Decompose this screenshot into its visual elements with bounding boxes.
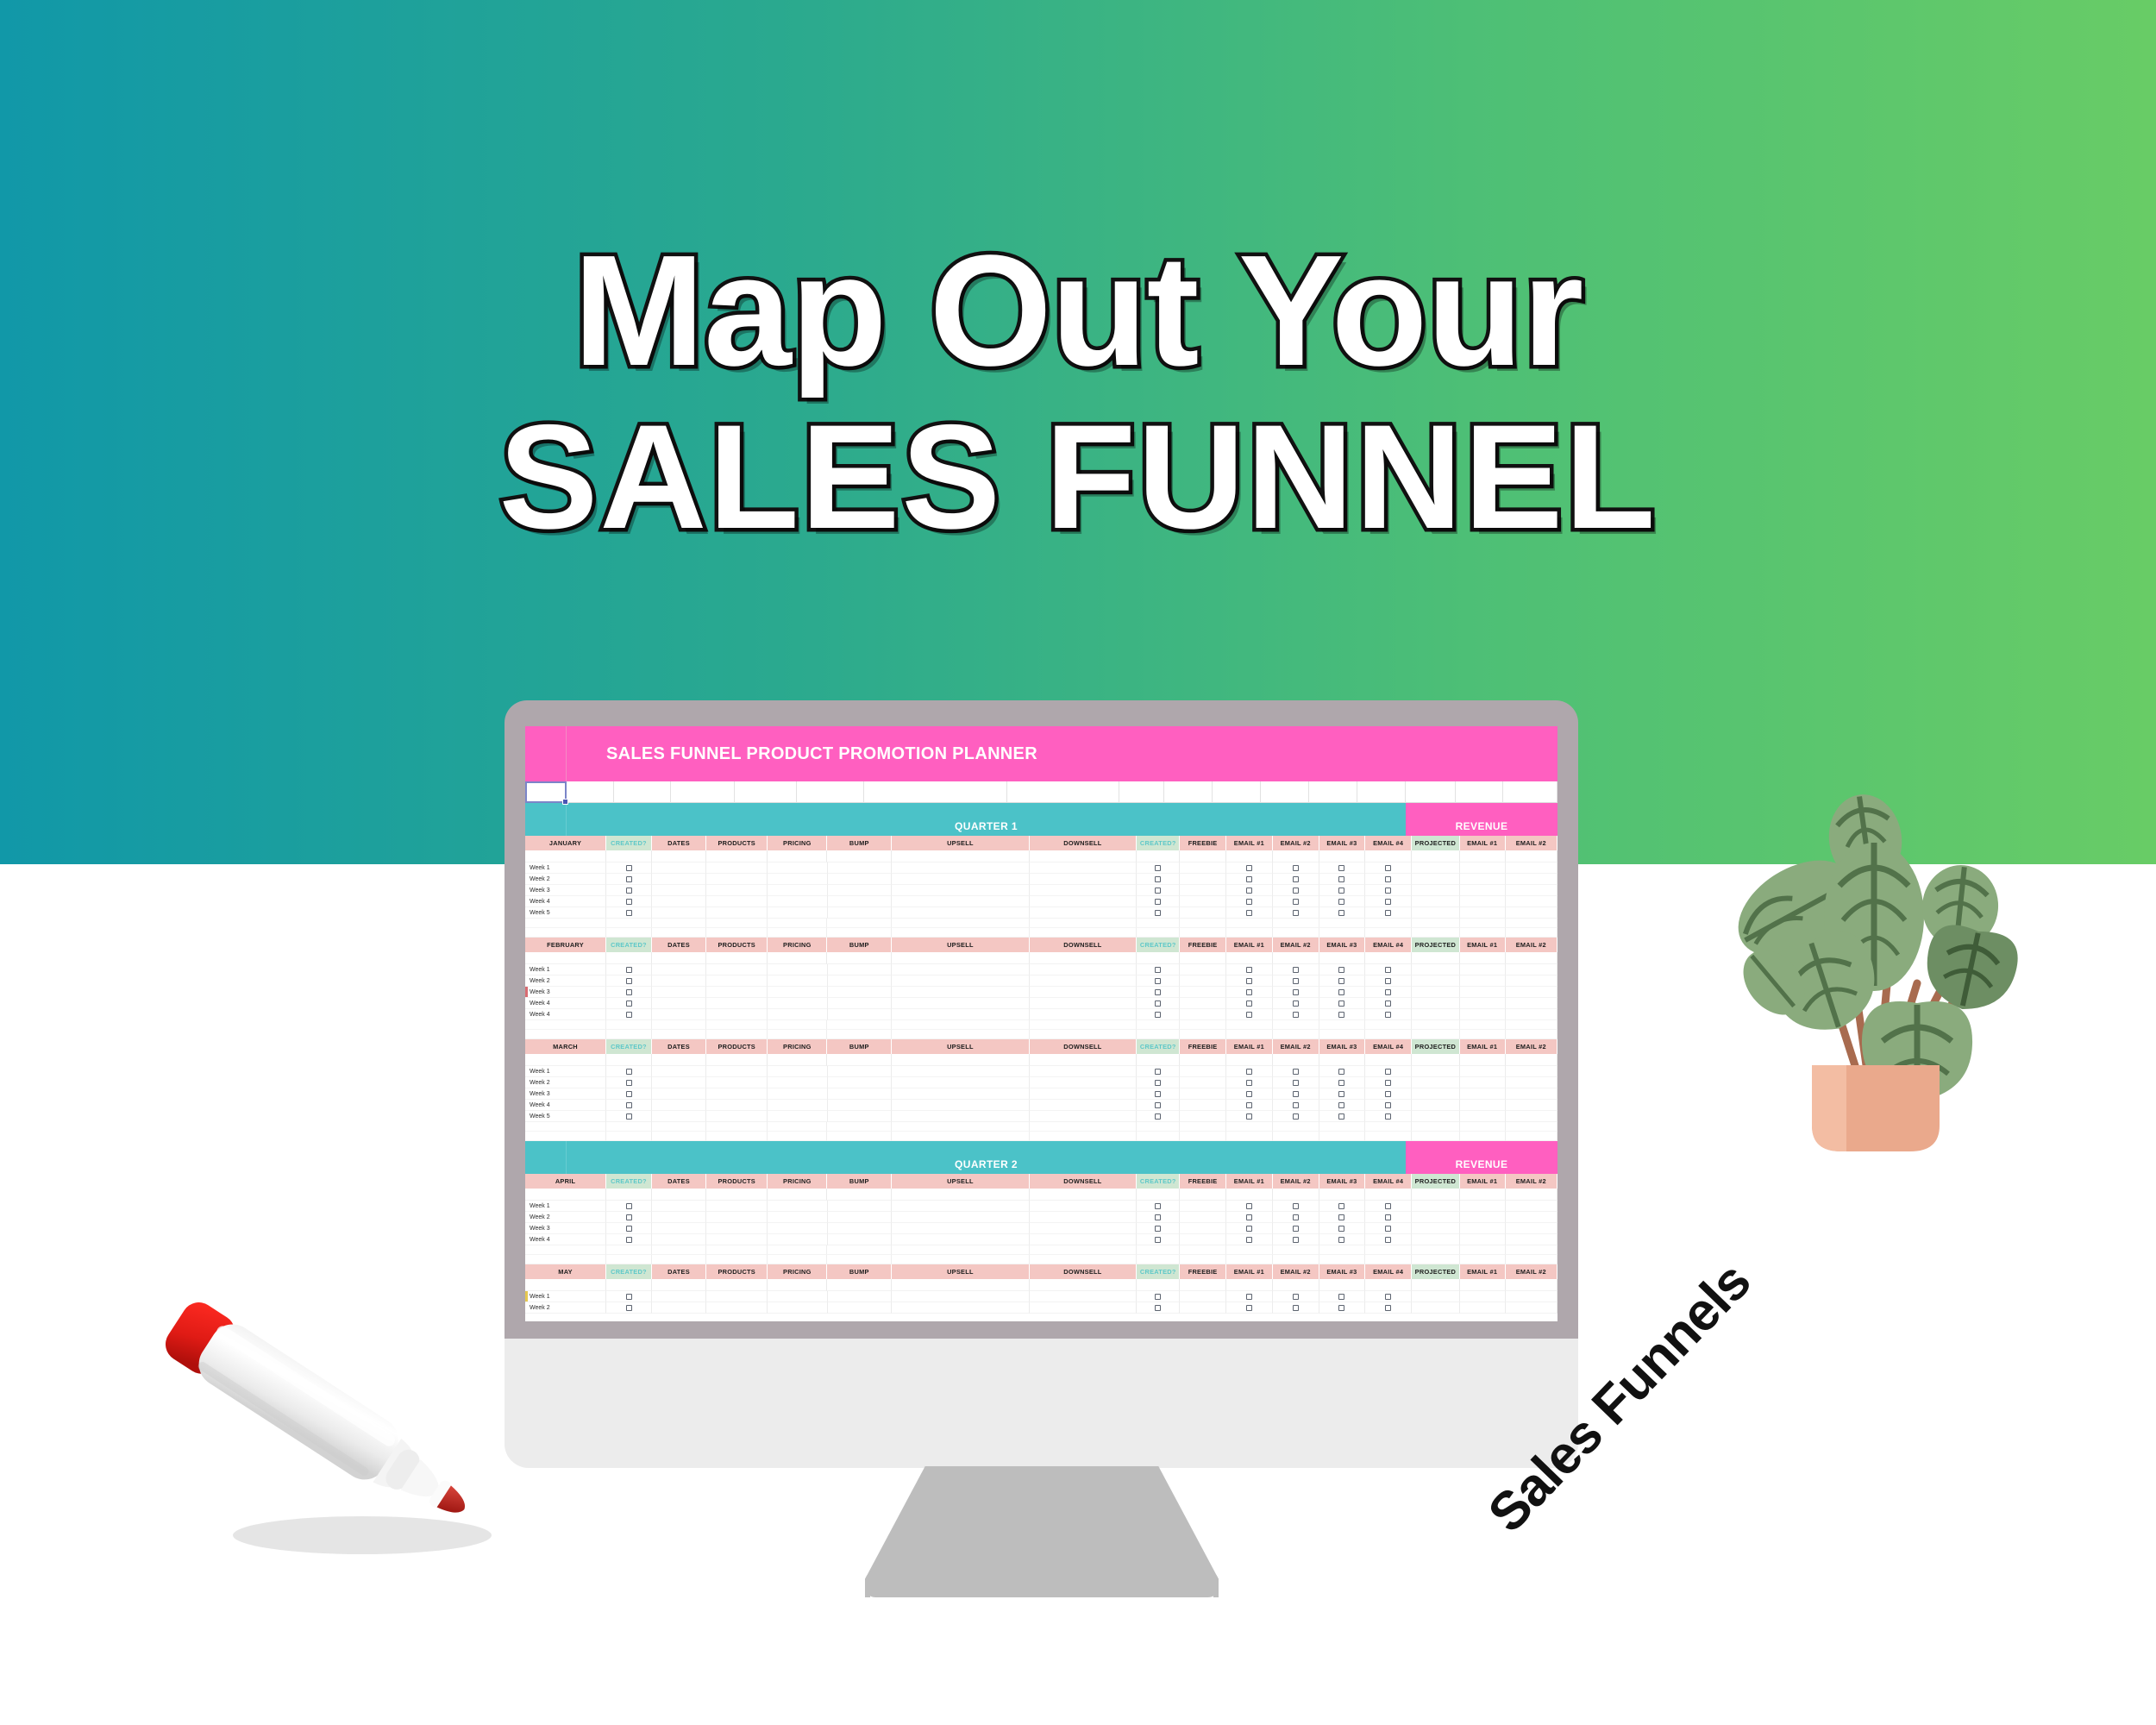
checkbox-cell[interactable] xyxy=(1319,1111,1366,1122)
checkbox-cell[interactable] xyxy=(1226,1111,1273,1122)
data-cell[interactable] xyxy=(1412,1212,1460,1223)
blank-cell[interactable] xyxy=(567,781,614,803)
checkbox-cell[interactable] xyxy=(1273,1088,1319,1100)
checkbox-icon[interactable] xyxy=(1155,978,1161,984)
checkbox-icon[interactable] xyxy=(1385,1305,1391,1311)
table-row[interactable]: Week 5 xyxy=(525,907,1557,919)
checkbox-icon[interactable] xyxy=(626,1012,632,1018)
data-cell[interactable] xyxy=(892,1077,1029,1088)
data-cell[interactable] xyxy=(1412,907,1460,919)
checkbox-icon[interactable] xyxy=(1293,876,1299,882)
data-cell[interactable] xyxy=(768,1100,827,1111)
checkbox-icon[interactable] xyxy=(1246,1113,1252,1120)
checkbox-cell[interactable] xyxy=(1365,987,1412,998)
checkbox-cell[interactable] xyxy=(1226,998,1273,1009)
checkbox-cell[interactable] xyxy=(1273,964,1319,975)
data-cell[interactable] xyxy=(1412,885,1460,896)
checkbox-icon[interactable] xyxy=(1293,1305,1299,1311)
checkbox-cell[interactable] xyxy=(1319,1212,1366,1223)
checkbox-icon[interactable] xyxy=(1338,1237,1344,1243)
data-cell[interactable] xyxy=(652,1234,706,1245)
data-cell[interactable] xyxy=(892,896,1029,907)
checkbox-cell[interactable] xyxy=(1319,1077,1366,1088)
checkbox-icon[interactable] xyxy=(1246,910,1252,916)
checkbox-icon[interactable] xyxy=(1246,1080,1252,1086)
checkbox-icon[interactable] xyxy=(1155,1102,1161,1108)
checkbox-icon[interactable] xyxy=(1338,967,1344,973)
checkbox-icon[interactable] xyxy=(1293,865,1299,871)
data-cell[interactable] xyxy=(768,885,827,896)
checkbox-cell[interactable] xyxy=(1137,1302,1180,1314)
checkbox-cell[interactable] xyxy=(1365,1234,1412,1245)
checkbox-icon[interactable] xyxy=(1155,1237,1161,1243)
data-cell[interactable] xyxy=(1180,1234,1226,1245)
data-cell[interactable] xyxy=(892,907,1029,919)
checkbox-cell[interactable] xyxy=(1273,1100,1319,1111)
data-cell[interactable] xyxy=(1460,1088,1506,1100)
data-cell[interactable] xyxy=(1180,1291,1226,1302)
checkbox-cell[interactable] xyxy=(606,862,652,874)
checkbox-cell[interactable] xyxy=(1137,998,1180,1009)
checkbox-icon[interactable] xyxy=(1155,1012,1161,1018)
checkbox-icon[interactable] xyxy=(1246,989,1252,995)
checkbox-cell[interactable] xyxy=(1365,874,1412,885)
data-cell[interactable] xyxy=(768,1066,827,1077)
data-cell[interactable] xyxy=(1460,1066,1506,1077)
data-cell[interactable] xyxy=(892,1234,1029,1245)
checkbox-cell[interactable] xyxy=(1137,1009,1180,1020)
data-cell[interactable] xyxy=(1460,874,1506,885)
data-cell[interactable] xyxy=(1412,1009,1460,1020)
checkbox-cell[interactable] xyxy=(1273,1111,1319,1122)
data-cell[interactable] xyxy=(828,987,893,998)
data-cell[interactable] xyxy=(1180,1100,1226,1111)
checkbox-cell[interactable] xyxy=(1137,1111,1180,1122)
checkbox-cell[interactable] xyxy=(1319,1302,1366,1314)
checkbox-cell[interactable] xyxy=(1137,1088,1180,1100)
checkbox-icon[interactable] xyxy=(1338,978,1344,984)
checkbox-cell[interactable] xyxy=(1226,896,1273,907)
data-cell[interactable] xyxy=(1412,975,1460,987)
data-cell[interactable] xyxy=(1460,964,1506,975)
checkbox-icon[interactable] xyxy=(1385,1237,1391,1243)
data-cell[interactable] xyxy=(706,1201,768,1212)
data-cell[interactable] xyxy=(652,907,706,919)
checkbox-icon[interactable] xyxy=(1338,888,1344,894)
data-cell[interactable] xyxy=(768,975,827,987)
checkbox-cell[interactable] xyxy=(1226,1291,1273,1302)
checkbox-cell[interactable] xyxy=(1273,1201,1319,1212)
checkbox-cell[interactable] xyxy=(1273,1077,1319,1088)
checkbox-cell[interactable] xyxy=(1226,1302,1273,1314)
data-cell[interactable] xyxy=(892,998,1029,1009)
checkbox-icon[interactable] xyxy=(626,1000,632,1007)
checkbox-icon[interactable] xyxy=(1246,865,1252,871)
checkbox-icon[interactable] xyxy=(1293,888,1299,894)
checkbox-cell[interactable] xyxy=(1273,896,1319,907)
data-cell[interactable] xyxy=(1180,987,1226,998)
checkbox-icon[interactable] xyxy=(626,1294,632,1300)
blank-cell[interactable] xyxy=(1456,781,1503,803)
checkbox-cell[interactable] xyxy=(1319,896,1366,907)
checkbox-icon[interactable] xyxy=(1338,1203,1344,1209)
table-row[interactable]: Week 3 xyxy=(525,987,1557,998)
data-cell[interactable] xyxy=(652,1212,706,1223)
data-cell[interactable] xyxy=(892,975,1029,987)
checkbox-cell[interactable] xyxy=(1319,907,1366,919)
data-cell[interactable] xyxy=(1412,896,1460,907)
checkbox-cell[interactable] xyxy=(1365,1009,1412,1020)
data-cell[interactable] xyxy=(1180,1088,1226,1100)
table-row[interactable]: Week 1 xyxy=(525,1201,1557,1212)
checkbox-icon[interactable] xyxy=(1155,1113,1161,1120)
checkbox-icon[interactable] xyxy=(626,1113,632,1120)
data-cell[interactable] xyxy=(1180,1077,1226,1088)
checkbox-cell[interactable] xyxy=(606,975,652,987)
checkbox-icon[interactable] xyxy=(1293,1069,1299,1075)
checkbox-icon[interactable] xyxy=(1155,888,1161,894)
selected-cell[interactable] xyxy=(525,781,567,803)
checkbox-cell[interactable] xyxy=(1137,987,1180,998)
checkbox-icon[interactable] xyxy=(1338,876,1344,882)
checkbox-cell[interactable] xyxy=(1273,1009,1319,1020)
table-row[interactable]: Week 4 xyxy=(525,998,1557,1009)
checkbox-icon[interactable] xyxy=(626,888,632,894)
data-cell[interactable] xyxy=(768,987,827,998)
data-cell[interactable] xyxy=(1030,975,1138,987)
data-cell[interactable] xyxy=(652,1302,706,1314)
checkbox-icon[interactable] xyxy=(626,876,632,882)
checkbox-icon[interactable] xyxy=(626,899,632,905)
data-cell[interactable] xyxy=(1030,1009,1138,1020)
checkbox-cell[interactable] xyxy=(1365,1291,1412,1302)
data-cell[interactable] xyxy=(1412,1100,1460,1111)
data-cell[interactable] xyxy=(1180,1302,1226,1314)
data-cell[interactable] xyxy=(1030,885,1138,896)
table-row[interactable]: Week 3 xyxy=(525,885,1557,896)
data-cell[interactable] xyxy=(706,1100,768,1111)
checkbox-cell[interactable] xyxy=(606,1111,652,1122)
checkbox-icon[interactable] xyxy=(1338,910,1344,916)
table-row[interactable]: Week 2 xyxy=(525,975,1557,987)
checkbox-icon[interactable] xyxy=(1246,1000,1252,1007)
data-cell[interactable] xyxy=(652,975,706,987)
table-row[interactable]: Week 4 xyxy=(525,1234,1557,1245)
checkbox-cell[interactable] xyxy=(1137,1212,1180,1223)
checkbox-icon[interactable] xyxy=(1338,865,1344,871)
data-cell[interactable] xyxy=(652,896,706,907)
checkbox-cell[interactable] xyxy=(1137,1077,1180,1088)
data-cell[interactable] xyxy=(652,998,706,1009)
checkbox-cell[interactable] xyxy=(1319,1234,1366,1245)
checkbox-cell[interactable] xyxy=(1137,1066,1180,1077)
data-cell[interactable] xyxy=(1180,1201,1226,1212)
data-cell[interactable] xyxy=(1180,964,1226,975)
checkbox-icon[interactable] xyxy=(626,1069,632,1075)
checkbox-icon[interactable] xyxy=(1293,1237,1299,1243)
checkbox-icon[interactable] xyxy=(1293,1080,1299,1086)
checkbox-cell[interactable] xyxy=(606,1077,652,1088)
data-cell[interactable] xyxy=(706,885,768,896)
blank-cell[interactable] xyxy=(614,781,671,803)
checkbox-icon[interactable] xyxy=(1246,1012,1252,1018)
checkbox-cell[interactable] xyxy=(1319,964,1366,975)
checkbox-cell[interactable] xyxy=(606,1201,652,1212)
checkbox-icon[interactable] xyxy=(1246,888,1252,894)
checkbox-icon[interactable] xyxy=(1385,1113,1391,1120)
data-cell[interactable] xyxy=(1460,1100,1506,1111)
checkbox-cell[interactable] xyxy=(1319,1009,1366,1020)
data-cell[interactable] xyxy=(828,874,893,885)
checkbox-icon[interactable] xyxy=(1246,899,1252,905)
checkbox-cell[interactable] xyxy=(1319,975,1366,987)
checkbox-icon[interactable] xyxy=(1246,1305,1252,1311)
checkbox-cell[interactable] xyxy=(606,907,652,919)
blank-cell[interactable] xyxy=(1309,781,1357,803)
checkbox-icon[interactable] xyxy=(1385,1102,1391,1108)
checkbox-cell[interactable] xyxy=(1137,1291,1180,1302)
checkbox-icon[interactable] xyxy=(1293,1214,1299,1220)
data-cell[interactable] xyxy=(1180,1223,1226,1234)
data-cell[interactable] xyxy=(1506,975,1557,987)
data-cell[interactable] xyxy=(652,885,706,896)
data-cell[interactable] xyxy=(706,975,768,987)
checkbox-cell[interactable] xyxy=(1319,1201,1366,1212)
data-cell[interactable] xyxy=(1030,907,1138,919)
data-cell[interactable] xyxy=(1412,1066,1460,1077)
data-cell[interactable] xyxy=(828,1088,893,1100)
data-cell[interactable] xyxy=(828,1291,893,1302)
data-cell[interactable] xyxy=(1506,1201,1557,1212)
checkbox-cell[interactable] xyxy=(1226,1077,1273,1088)
checkbox-icon[interactable] xyxy=(1293,1113,1299,1120)
blank-cell[interactable] xyxy=(1261,781,1309,803)
spreadsheet[interactable]: SALES FUNNEL PRODUCT PROMOTION PLANNER xyxy=(525,726,1557,1314)
data-cell[interactable] xyxy=(1412,874,1460,885)
checkbox-cell[interactable] xyxy=(606,1291,652,1302)
checkbox-cell[interactable] xyxy=(606,1066,652,1077)
checkbox-icon[interactable] xyxy=(1385,1203,1391,1209)
table-row[interactable]: Week 1 xyxy=(525,1066,1557,1077)
data-cell[interactable] xyxy=(1030,998,1138,1009)
checkbox-icon[interactable] xyxy=(1155,1069,1161,1075)
data-cell[interactable] xyxy=(1506,874,1557,885)
data-cell[interactable] xyxy=(768,907,827,919)
fill-handle[interactable] xyxy=(562,799,568,805)
data-cell[interactable] xyxy=(768,1077,827,1088)
checkbox-cell[interactable] xyxy=(606,1302,652,1314)
data-cell[interactable] xyxy=(768,1234,827,1245)
checkbox-icon[interactable] xyxy=(1385,1294,1391,1300)
checkbox-cell[interactable] xyxy=(1319,885,1366,896)
data-cell[interactable] xyxy=(828,1302,893,1314)
data-cell[interactable] xyxy=(1412,1111,1460,1122)
checkbox-icon[interactable] xyxy=(1155,876,1161,882)
checkbox-icon[interactable] xyxy=(1338,989,1344,995)
checkbox-icon[interactable] xyxy=(1385,1226,1391,1232)
table-row[interactable]: Week 2 xyxy=(525,1302,1557,1314)
checkbox-cell[interactable] xyxy=(1319,1291,1366,1302)
data-cell[interactable] xyxy=(652,1291,706,1302)
data-cell[interactable] xyxy=(652,862,706,874)
checkbox-cell[interactable] xyxy=(606,885,652,896)
data-cell[interactable] xyxy=(706,1111,768,1122)
data-cell[interactable] xyxy=(1180,1066,1226,1077)
data-cell[interactable] xyxy=(828,975,893,987)
data-cell[interactable] xyxy=(828,885,893,896)
checkbox-cell[interactable] xyxy=(1319,998,1366,1009)
data-cell[interactable] xyxy=(1030,987,1138,998)
data-cell[interactable] xyxy=(1460,862,1506,874)
checkbox-icon[interactable] xyxy=(1155,1203,1161,1209)
checkbox-icon[interactable] xyxy=(1155,989,1161,995)
checkbox-icon[interactable] xyxy=(1246,1226,1252,1232)
checkbox-icon[interactable] xyxy=(1385,989,1391,995)
data-cell[interactable] xyxy=(706,1066,768,1077)
data-cell[interactable] xyxy=(768,862,827,874)
checkbox-cell[interactable] xyxy=(606,1223,652,1234)
data-cell[interactable] xyxy=(828,1066,893,1077)
data-cell[interactable] xyxy=(706,1291,768,1302)
checkbox-icon[interactable] xyxy=(626,910,632,916)
checkbox-icon[interactable] xyxy=(1246,1237,1252,1243)
data-cell[interactable] xyxy=(1506,1077,1557,1088)
checkbox-cell[interactable] xyxy=(1365,907,1412,919)
data-cell[interactable] xyxy=(1506,885,1557,896)
data-cell[interactable] xyxy=(652,1223,706,1234)
data-cell[interactable] xyxy=(892,1066,1029,1077)
checkbox-icon[interactable] xyxy=(626,1080,632,1086)
data-cell[interactable] xyxy=(1030,1111,1138,1122)
checkbox-cell[interactable] xyxy=(1137,964,1180,975)
data-cell[interactable] xyxy=(706,964,768,975)
checkbox-icon[interactable] xyxy=(626,978,632,984)
checkbox-cell[interactable] xyxy=(1137,975,1180,987)
data-cell[interactable] xyxy=(652,1201,706,1212)
blank-cell[interactable] xyxy=(864,781,1007,803)
data-cell[interactable] xyxy=(1412,964,1460,975)
checkbox-cell[interactable] xyxy=(1365,862,1412,874)
checkbox-cell[interactable] xyxy=(1137,1234,1180,1245)
checkbox-cell[interactable] xyxy=(1273,1212,1319,1223)
checkbox-icon[interactable] xyxy=(1246,1214,1252,1220)
checkbox-icon[interactable] xyxy=(1385,978,1391,984)
blank-cell[interactable] xyxy=(1213,781,1261,803)
data-cell[interactable] xyxy=(1506,862,1557,874)
checkbox-icon[interactable] xyxy=(1155,1305,1161,1311)
checkbox-icon[interactable] xyxy=(1385,910,1391,916)
data-cell[interactable] xyxy=(892,874,1029,885)
data-cell[interactable] xyxy=(1030,1234,1138,1245)
checkbox-cell[interactable] xyxy=(1137,885,1180,896)
checkbox-icon[interactable] xyxy=(1385,1080,1391,1086)
checkbox-icon[interactable] xyxy=(1338,1214,1344,1220)
checkbox-cell[interactable] xyxy=(606,874,652,885)
checkbox-icon[interactable] xyxy=(1385,1214,1391,1220)
data-cell[interactable] xyxy=(892,1291,1029,1302)
data-cell[interactable] xyxy=(1412,1088,1460,1100)
checkbox-icon[interactable] xyxy=(1293,1000,1299,1007)
data-cell[interactable] xyxy=(1460,1009,1506,1020)
checkbox-icon[interactable] xyxy=(1385,1069,1391,1075)
checkbox-cell[interactable] xyxy=(1319,1088,1366,1100)
checkbox-cell[interactable] xyxy=(1137,874,1180,885)
checkbox-cell[interactable] xyxy=(1226,975,1273,987)
checkbox-icon[interactable] xyxy=(1246,1203,1252,1209)
blank-cell[interactable] xyxy=(1119,781,1164,803)
checkbox-icon[interactable] xyxy=(626,1214,632,1220)
data-cell[interactable] xyxy=(1180,874,1226,885)
checkbox-icon[interactable] xyxy=(1338,1305,1344,1311)
checkbox-cell[interactable] xyxy=(1226,1201,1273,1212)
data-cell[interactable] xyxy=(1030,1302,1138,1314)
data-cell[interactable] xyxy=(892,885,1029,896)
data-cell[interactable] xyxy=(768,998,827,1009)
data-cell[interactable] xyxy=(892,987,1029,998)
checkbox-cell[interactable] xyxy=(1365,1077,1412,1088)
data-cell[interactable] xyxy=(652,1111,706,1122)
checkbox-cell[interactable] xyxy=(606,987,652,998)
table-row[interactable]: Week 1 xyxy=(525,862,1557,874)
checkbox-cell[interactable] xyxy=(1365,1223,1412,1234)
table-row[interactable]: Week 2 xyxy=(525,1077,1557,1088)
checkbox-icon[interactable] xyxy=(1385,1012,1391,1018)
data-cell[interactable] xyxy=(1030,1201,1138,1212)
checkbox-cell[interactable] xyxy=(1273,885,1319,896)
checkbox-cell[interactable] xyxy=(1365,975,1412,987)
data-cell[interactable] xyxy=(706,862,768,874)
checkbox-cell[interactable] xyxy=(1137,862,1180,874)
data-cell[interactable] xyxy=(706,1234,768,1245)
data-cell[interactable] xyxy=(1180,907,1226,919)
data-cell[interactable] xyxy=(1506,964,1557,975)
data-cell[interactable] xyxy=(652,964,706,975)
checkbox-icon[interactable] xyxy=(1338,1102,1344,1108)
checkbox-icon[interactable] xyxy=(1246,1294,1252,1300)
data-cell[interactable] xyxy=(1412,862,1460,874)
checkbox-cell[interactable] xyxy=(1226,1223,1273,1234)
checkbox-icon[interactable] xyxy=(1385,876,1391,882)
data-cell[interactable] xyxy=(892,1009,1029,1020)
checkbox-cell[interactable] xyxy=(1137,1100,1180,1111)
checkbox-icon[interactable] xyxy=(1293,978,1299,984)
data-cell[interactable] xyxy=(892,1100,1029,1111)
checkbox-cell[interactable] xyxy=(1137,1201,1180,1212)
checkbox-cell[interactable] xyxy=(1137,1223,1180,1234)
data-cell[interactable] xyxy=(828,1100,893,1111)
checkbox-cell[interactable] xyxy=(1365,1088,1412,1100)
data-cell[interactable] xyxy=(828,907,893,919)
data-cell[interactable] xyxy=(1030,1212,1138,1223)
checkbox-icon[interactable] xyxy=(626,1226,632,1232)
checkbox-cell[interactable] xyxy=(1365,1212,1412,1223)
checkbox-cell[interactable] xyxy=(1319,1066,1366,1077)
data-cell[interactable] xyxy=(1030,1223,1138,1234)
checkbox-icon[interactable] xyxy=(1385,1091,1391,1097)
data-cell[interactable] xyxy=(1030,1077,1138,1088)
checkbox-icon[interactable] xyxy=(1338,1000,1344,1007)
data-cell[interactable] xyxy=(828,862,893,874)
checkbox-icon[interactable] xyxy=(1155,1091,1161,1097)
data-cell[interactable] xyxy=(706,896,768,907)
checkbox-icon[interactable] xyxy=(1338,1012,1344,1018)
checkbox-icon[interactable] xyxy=(626,1237,632,1243)
table-row[interactable]: Week 4 xyxy=(525,1009,1557,1020)
data-cell[interactable] xyxy=(1030,1100,1138,1111)
data-cell[interactable] xyxy=(706,874,768,885)
data-cell[interactable] xyxy=(1180,1009,1226,1020)
data-cell[interactable] xyxy=(652,1088,706,1100)
